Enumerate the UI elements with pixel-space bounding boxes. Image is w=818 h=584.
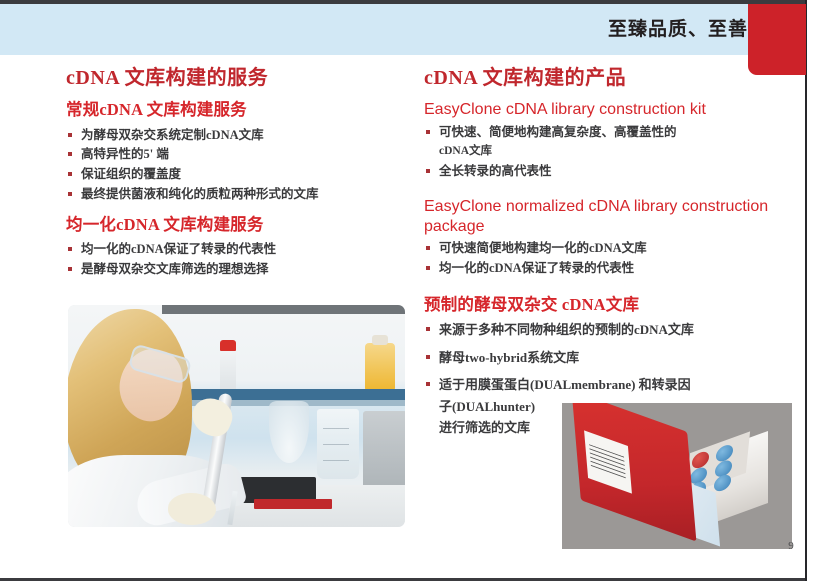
list-item: 为酵母双杂交系统定制cDNA文库 (66, 126, 411, 145)
lab-beaker (317, 409, 359, 479)
left-group-0-heading: 常规cDNA 文库构建服务 (66, 100, 411, 121)
list-item: 来源于多种不同物种组织的预制的cDNA文库 (424, 320, 799, 340)
list-item: 酵母two-hybrid系统文库 (424, 348, 799, 368)
list-item-text: 可快速、简便地构建高复杂度、高覆盖性的 (439, 125, 677, 139)
page-number: 9 (780, 540, 802, 552)
right-group-1-list: 可快速简便地构建均一化的cDNA文库 均一化的cDNA保证了转录的代表性 (424, 239, 799, 278)
right-column: cDNA 文库构建的产品 EasyClone cDNA library cons… (424, 66, 799, 449)
lab-shelf-board (159, 389, 405, 400)
list-item-continuation: cDNA文库 (439, 143, 799, 160)
page-margin-right (807, 0, 818, 584)
lab-bottle-cap (372, 335, 388, 345)
list-item: 可快速简便地构建均一化的cDNA文库 (424, 239, 799, 258)
list-item: 高特异性的5' 端 (66, 145, 411, 164)
list-item: 均一化的cDNA保证了转录的代表性 (424, 259, 799, 278)
slide-page: 至臻品质、至善服务 cDNA 文库构建的服务 常规cDNA 文库构建服务 为酵母… (0, 0, 818, 584)
left-section-title: cDNA 文库构建的服务 (66, 66, 411, 90)
list-item-text: 适于用膜蛋蛋白(DUALmembrane) 和转录因 (439, 377, 691, 392)
list-item: 全长转录的高代表性 (424, 162, 799, 181)
lab-shelf-top (162, 305, 405, 314)
right-group-0-heading: EasyClone cDNA library construction kit (424, 100, 799, 120)
left-column: cDNA 文库构建的服务 常规cDNA 文库构建服务 为酵母双杂交系统定制cDN… (66, 66, 411, 290)
lab-scientist-photo (68, 305, 405, 527)
header-band: 至臻品质、至善服务 (0, 4, 806, 55)
right-group-2-heading: 预制的酵母双杂交 cDNA文库 (424, 295, 799, 316)
list-item: 可快速、简便地构建高复杂度、高覆盖性的 cDNA文库 (424, 123, 799, 161)
left-group-1-heading: 均一化cDNA 文库构建服务 (66, 215, 411, 236)
lab-tray-red-edge (254, 499, 332, 509)
list-item: 是酵母双杂交文库筛选的理想选择 (66, 260, 411, 279)
right-section-title: cDNA 文库构建的产品 (424, 66, 799, 90)
list-item: 最终提供菌液和纯化的质粒两种形式的文库 (66, 185, 411, 204)
product-kit-photo (562, 403, 792, 549)
kit-label-text-lines (589, 444, 626, 479)
lab-bottle-red-cap (220, 349, 236, 393)
left-group-0-list: 为酵母双杂交系统定制cDNA文库 高特异性的5' 端 保证组织的覆盖度 最终提供… (66, 126, 411, 204)
page-border-bottom (0, 578, 818, 581)
lab-bottle-yellow (365, 343, 395, 393)
right-group-0-list: 可快速、简便地构建高复杂度、高覆盖性的 cDNA文库 全长转录的高代表性 (424, 123, 799, 181)
left-group-1-list: 均一化的cDNA保证了转录的代表性 是酵母双杂交文库筛选的理想选择 (66, 240, 411, 279)
list-item: 保证组织的覆盖度 (66, 165, 411, 184)
scientist-glove-lower (168, 493, 216, 525)
list-item: 均一化的cDNA保证了转录的代表性 (66, 240, 411, 259)
right-group-1-heading: EasyClone normalized cDNA library constr… (424, 197, 799, 236)
header-red-tab (748, 4, 806, 75)
